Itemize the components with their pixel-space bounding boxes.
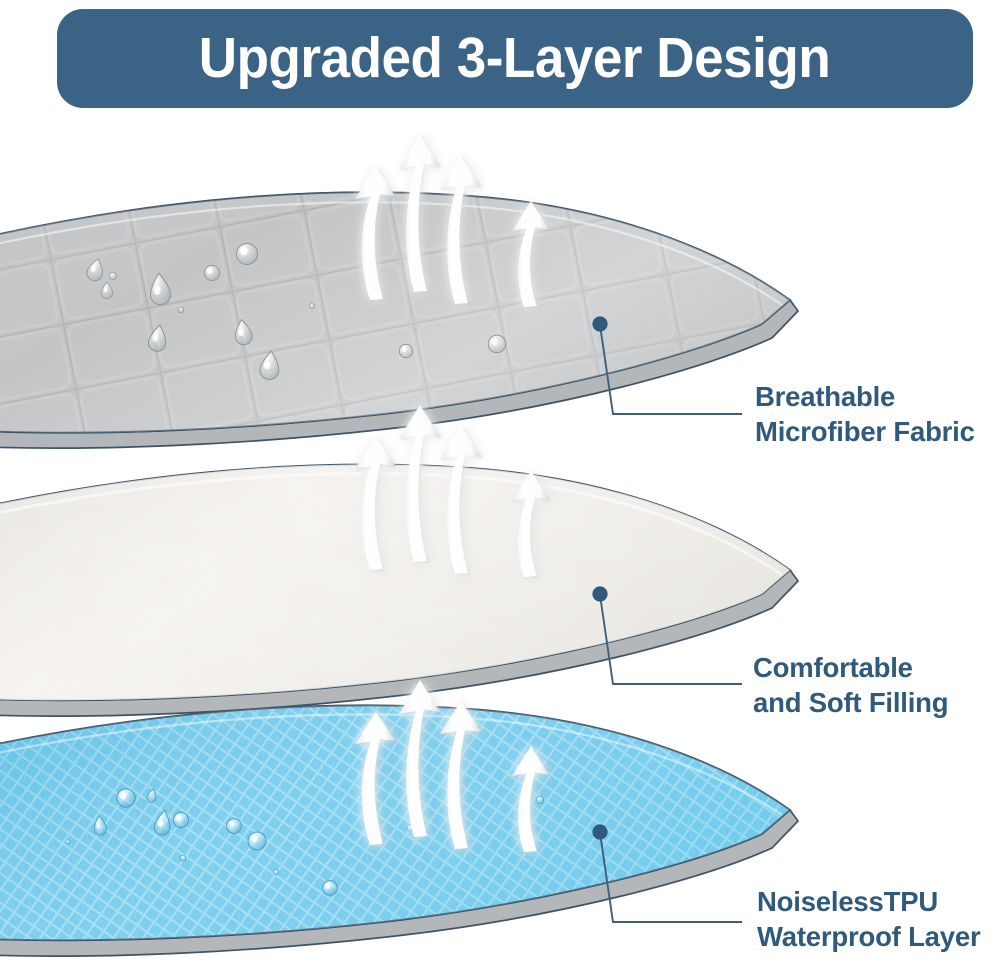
layer-diagram [0,0,1000,977]
callout-line-2: and Soft Filling [753,685,948,720]
callout-line-2: Waterproof Layer [757,919,980,954]
callout-dot [592,586,607,601]
callout-line-2: Microfiber Fabric [755,414,975,449]
callout-line-1: Comfortable [753,650,948,685]
callout-label-filling: Comfortable and Soft Filling [753,650,948,720]
callout-label-tpu: NoiselessTPU Waterproof Layer [757,884,980,954]
callout-label-microfiber: Breathable Microfiber Fabric [755,379,975,449]
callout-line-1: NoiselessTPU [757,884,980,919]
callout-dot [592,824,607,839]
callout-dot [592,316,607,331]
layer-bottom-tpu [0,680,840,977]
infographic-stage: Upgraded 3-Layer Design [0,0,1000,977]
callout-line-1: Breathable [755,379,975,414]
